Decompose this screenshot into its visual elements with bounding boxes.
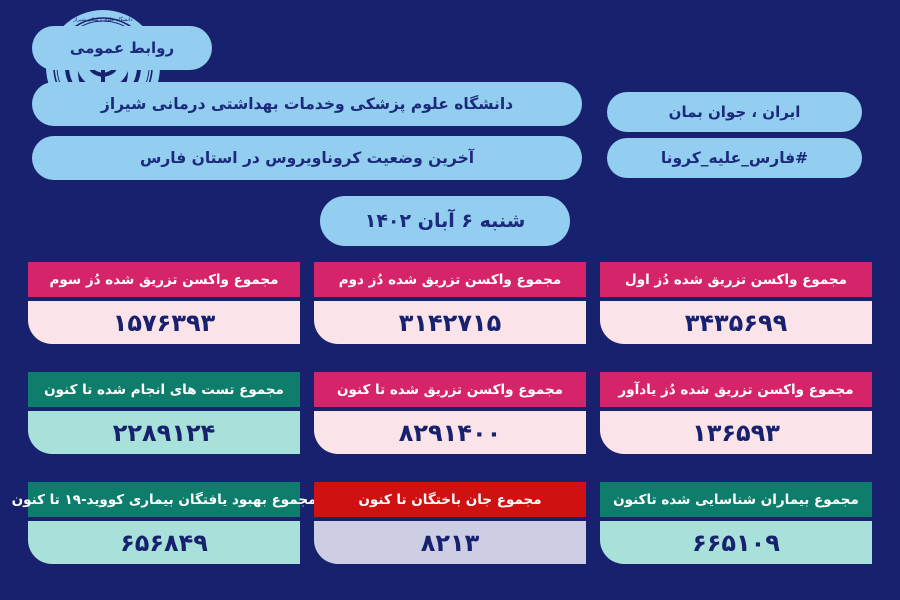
date-label: شنبه ۶ آبان ۱۴۰۲ bbox=[365, 210, 526, 232]
stat-card-value-confirmed-cases: ۶۶۵۱۰۹ bbox=[600, 521, 872, 564]
stat-card-title-vaccine-dose-3: مجموع واکسن تزریق شده دُز سوم bbox=[28, 262, 300, 297]
stat-card-vaccine-dose-1: مجموع واکسن تزریق شده دُز اول۳۴۳۵۶۹۹ bbox=[600, 262, 872, 344]
stat-card-title-vaccine-booster: مجموع واکسن تزریق شده دُز یادآور bbox=[600, 372, 872, 407]
stat-card-title-deaths: مجموع جان باختگان تا کنون bbox=[314, 482, 586, 517]
stat-card-title-confirmed-cases: مجموع بیماران شناسایی شده تاکنون bbox=[600, 482, 872, 517]
header-section: دانشگاه علوم پزشکی شیراز SHIRAZ UNIVERSI… bbox=[0, 0, 900, 190]
stat-card-value-vaccine-dose-3: ۱۵۷۶۳۹۳ bbox=[28, 301, 300, 344]
svg-text:دانشگاه علوم پزشکی شیراز: دانشگاه علوم پزشکی شیراز bbox=[73, 16, 133, 23]
status-title-label: آخرین وضعیت کروناویروس در استان فارس bbox=[140, 149, 474, 167]
stat-card-value-vaccine-dose-1: ۳۴۳۵۶۹۹ bbox=[600, 301, 872, 344]
stat-card-value-total-tests: ۲۲۸۹۱۲۴ bbox=[28, 411, 300, 454]
stat-card-value-vaccine-dose-2: ۳۱۴۲۷۱۵ bbox=[314, 301, 586, 344]
stat-card-title-vaccine-total: مجموع واکسن تزریق شده تا کنون bbox=[314, 372, 586, 407]
hashtag-label: #فارس_علیه_کرونا bbox=[661, 149, 808, 167]
stat-card-vaccine-total: مجموع واکسن تزریق شده تا کنون۸۲۹۱۴۰۰ bbox=[314, 372, 586, 454]
stat-card-title-vaccine-dose-1: مجموع واکسن تزریق شده دُز اول bbox=[600, 262, 872, 297]
university-name-label: دانشگاه علوم پزشکی وخدمات بهداشتی درمانی… bbox=[101, 95, 513, 113]
stat-card-value-vaccine-total: ۸۲۹۱۴۰۰ bbox=[314, 411, 586, 454]
stat-card-total-tests: مجموع تست های انجام شده تا کنون۲۲۸۹۱۲۴ bbox=[28, 372, 300, 454]
stat-card-value-vaccine-booster: ۱۳۶۵۹۳ bbox=[600, 411, 872, 454]
slogan-label: ایران ، جوان بمان bbox=[669, 103, 801, 121]
hashtag-banner: #فارس_علیه_کرونا bbox=[607, 138, 862, 178]
infographic-page: دانشگاه علوم پزشکی شیراز SHIRAZ UNIVERSI… bbox=[0, 0, 900, 600]
stat-card-title-vaccine-dose-2: مجموع واکسن تزریق شده دُز دوم bbox=[314, 262, 586, 297]
public-relations-label: روابط عمومی bbox=[70, 39, 174, 57]
stat-card-vaccine-booster: مجموع واکسن تزریق شده دُز یادآور۱۳۶۵۹۳ bbox=[600, 372, 872, 454]
date-banner: شنبه ۶ آبان ۱۴۰۲ bbox=[320, 196, 570, 246]
stat-card-recovered: مجموع بهبود یافتگان بیماری کووید-۱۹ تا ک… bbox=[28, 482, 300, 564]
stat-card-title-total-tests: مجموع تست های انجام شده تا کنون bbox=[28, 372, 300, 407]
public-relations-banner: روابط عمومی bbox=[32, 26, 212, 70]
stat-card-title-recovered: مجموع بهبود یافتگان بیماری کووید-۱۹ تا ک… bbox=[28, 482, 300, 517]
statistics-card-grid: مجموع واکسن تزریق شده دُز سوم۱۵۷۶۳۹۳مجمو… bbox=[0, 262, 900, 582]
stat-card-value-recovered: ۶۵۶۸۴۹ bbox=[28, 521, 300, 564]
stat-card-vaccine-dose-2: مجموع واکسن تزریق شده دُز دوم۳۱۴۲۷۱۵ bbox=[314, 262, 586, 344]
slogan-banner: ایران ، جوان بمان bbox=[607, 92, 862, 132]
stat-card-deaths: مجموع جان باختگان تا کنون۸۲۱۳ bbox=[314, 482, 586, 564]
stat-card-value-deaths: ۸۲۱۳ bbox=[314, 521, 586, 564]
stat-card-vaccine-dose-3: مجموع واکسن تزریق شده دُز سوم۱۵۷۶۳۹۳ bbox=[28, 262, 300, 344]
university-name-banner: دانشگاه علوم پزشکی وخدمات بهداشتی درمانی… bbox=[32, 82, 582, 126]
status-title-banner: آخرین وضعیت کروناویروس در استان فارس bbox=[32, 136, 582, 180]
stat-card-confirmed-cases: مجموع بیماران شناسایی شده تاکنون۶۶۵۱۰۹ bbox=[600, 482, 872, 564]
